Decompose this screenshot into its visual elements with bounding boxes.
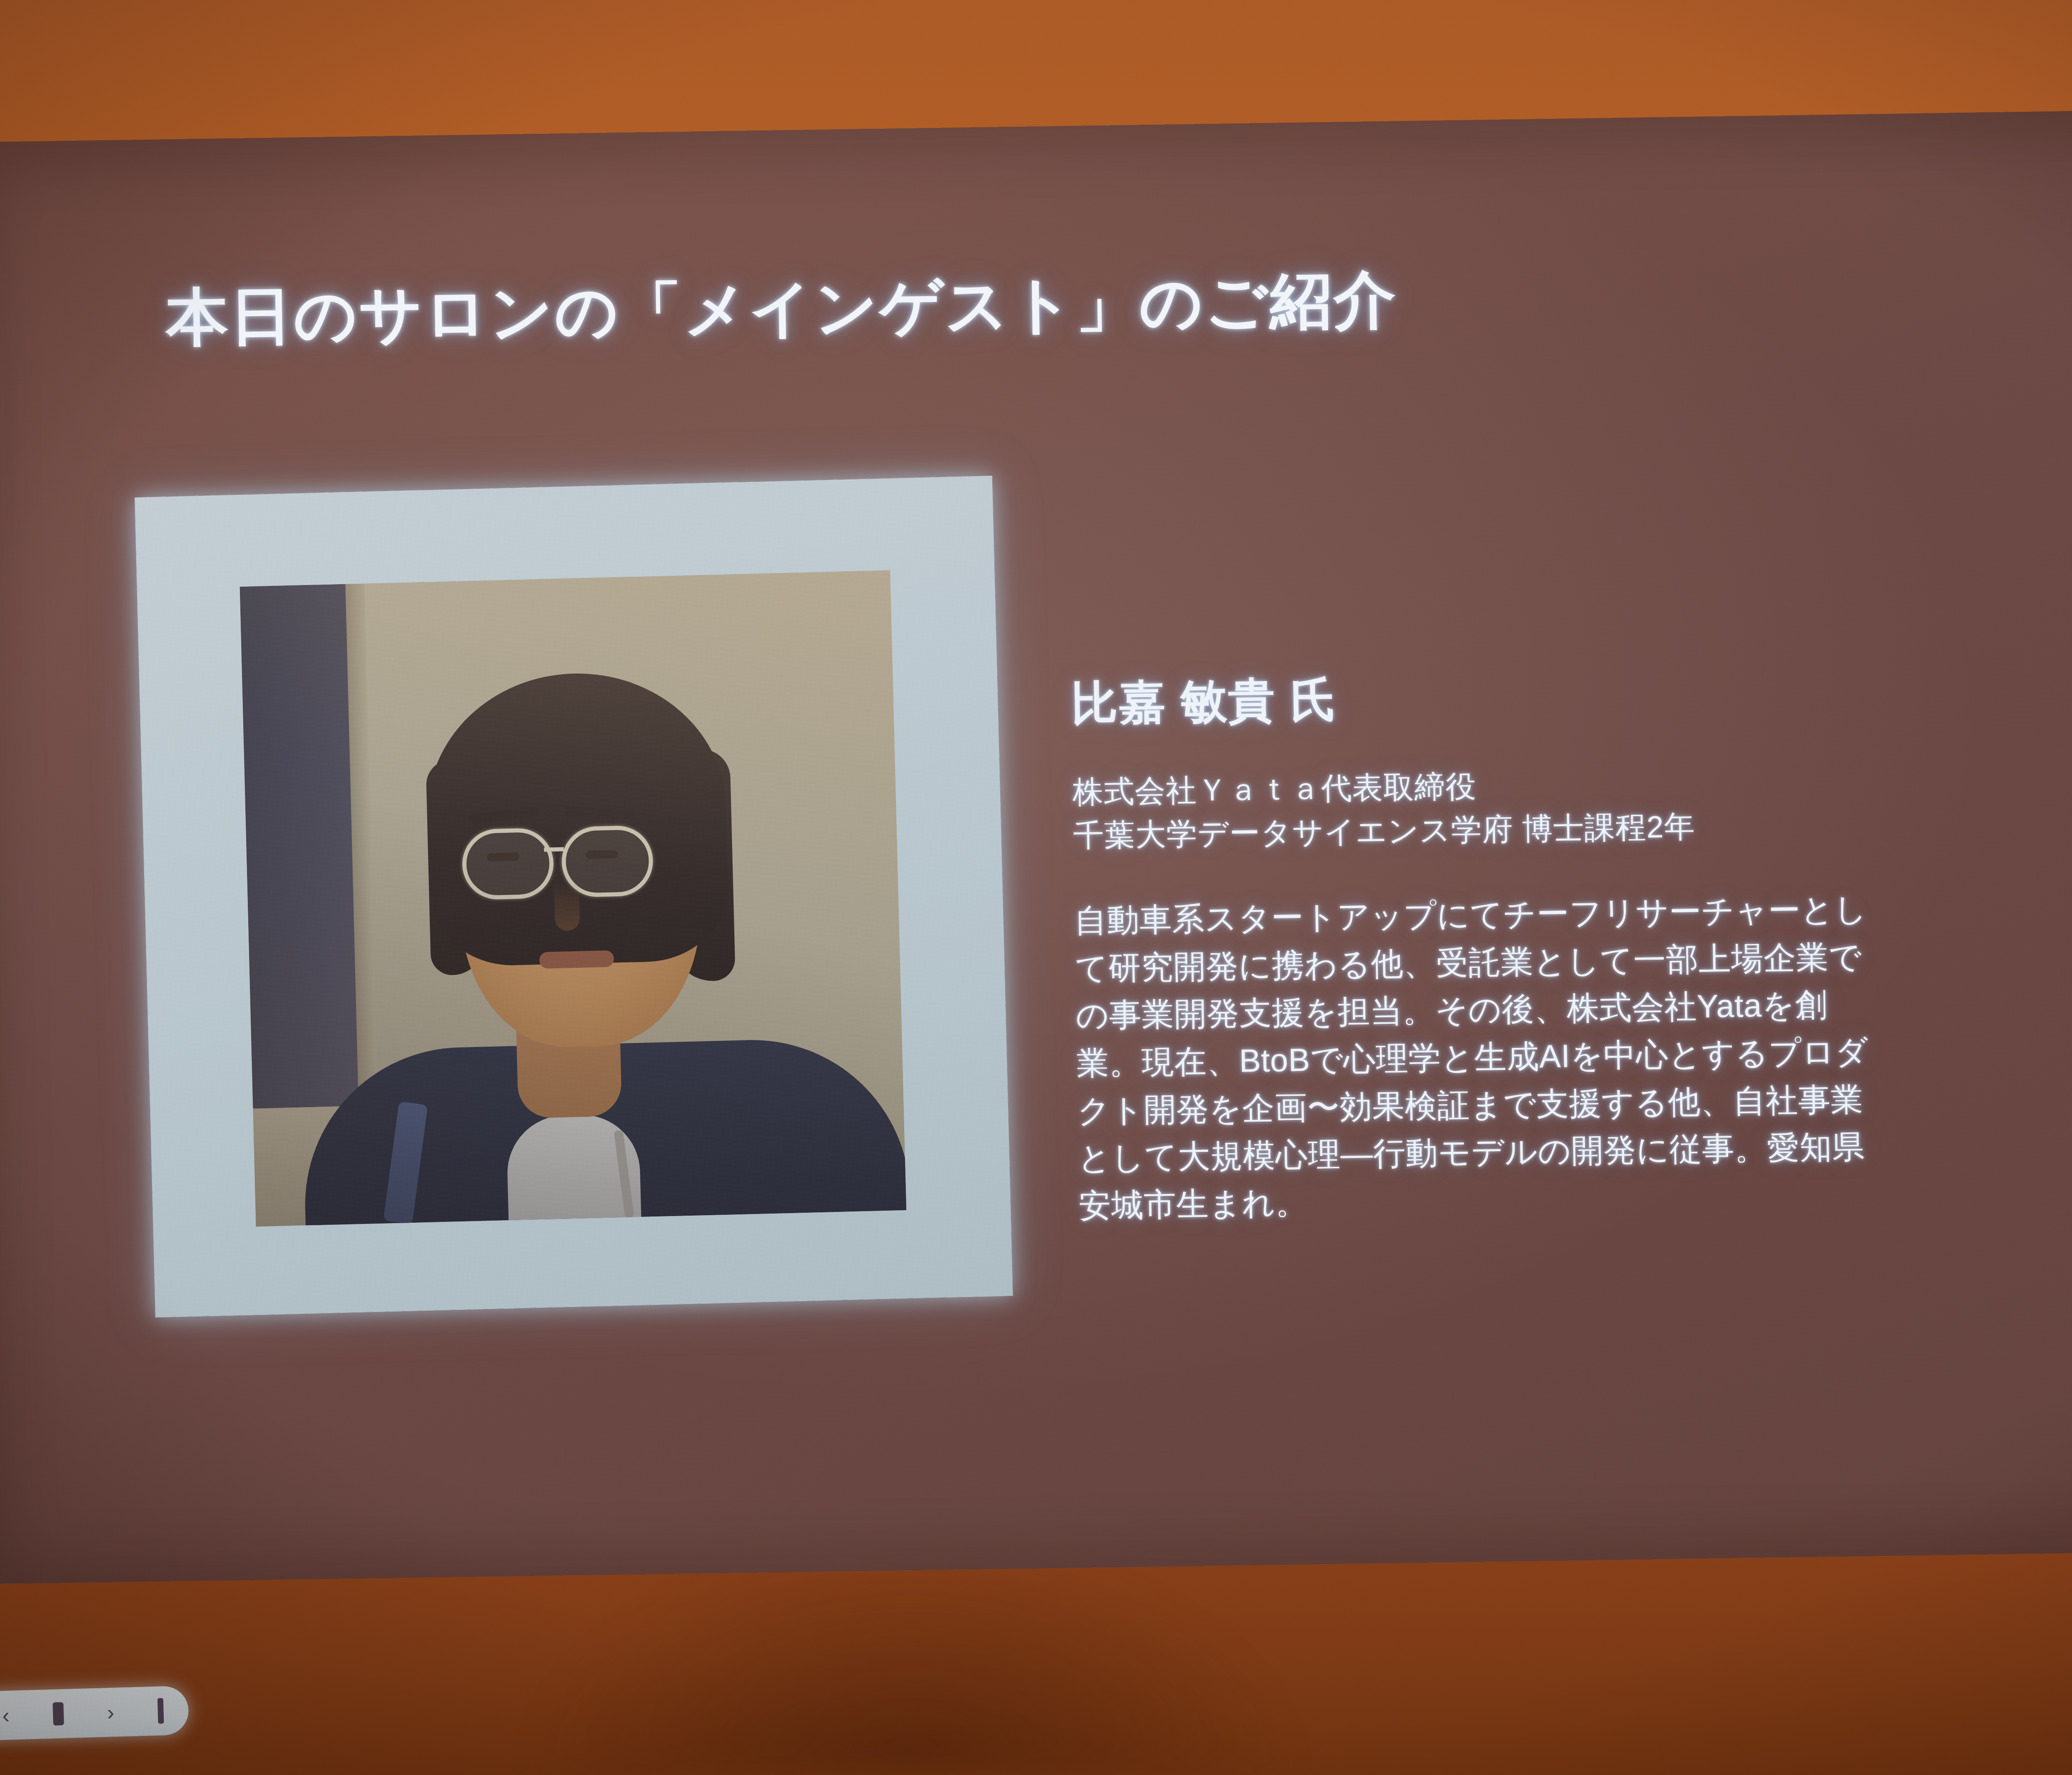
guest-photo [240,570,906,1226]
slide-content: 本日のサロンの「メインゲスト」のご紹介 [0,106,2072,1584]
presenter-toolbar[interactable]: ‹ › [0,1686,189,1741]
guest-photo-frame [135,476,1013,1318]
slide-title: 本日のサロンの「メインゲスト」のご紹介 [165,252,2072,355]
person-shadow [518,1543,1305,1775]
photo-screen-weave [240,570,906,1226]
pen-tool-icon[interactable] [53,1702,64,1726]
guest-name: 比嘉 敏貴 氏 [1071,660,2072,730]
guest-profile: 比嘉 敏貴 氏 株式会社Ｙａｔａ代表取締役 千葉大学データサイエンス学府 博士課… [1071,660,2072,1229]
more-options-icon[interactable] [157,1698,164,1724]
guest-bio: 自動車系スタートアップにてチーフリサーチャーとし て研究開発に携わる他、受託業と… [1074,880,2072,1229]
next-slide-icon[interactable]: › [92,1701,129,1724]
projected-slide-photo: 本日のサロンの「メインゲスト」のご紹介 [0,0,2072,1775]
projection-screen: 本日のサロンの「メインゲスト」のご紹介 [0,106,2072,1584]
previous-slide-icon[interactable]: ‹ [0,1704,25,1727]
